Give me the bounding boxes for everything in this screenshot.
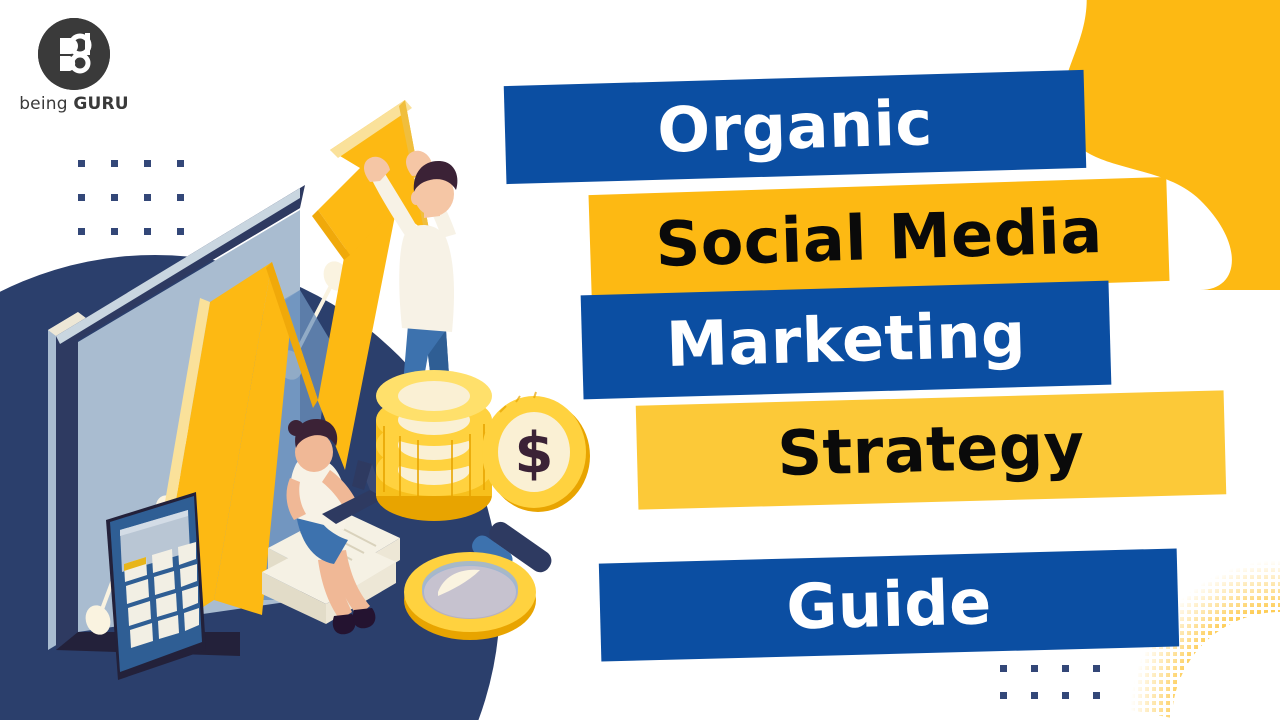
brand-logo[interactable]: being GURU [14, 18, 134, 113]
calculator [106, 492, 206, 680]
brand-wordmark-light: being [19, 94, 73, 114]
coin-stack: $ [376, 370, 590, 521]
title-line-marketing: Marketing [665, 304, 1026, 376]
title-line-strategy: Strategy [777, 415, 1086, 485]
title-banner-marketing: Marketing [581, 281, 1112, 400]
title-line-guide: Guide [786, 571, 993, 638]
title-banner-guide: Guide [599, 548, 1179, 661]
magnifying-glass [404, 518, 555, 640]
poster-canvas: $ [0, 0, 1280, 720]
dollar-coin: $ [482, 392, 590, 512]
being-guru-monogram-icon [38, 18, 110, 90]
title-line-organic: Organic [657, 92, 934, 162]
title-banner-strategy: Strategy [636, 390, 1227, 509]
svg-text:$: $ [515, 421, 554, 486]
brand-wordmark: being GURU [14, 96, 134, 113]
brand-wordmark-bold: GURU [73, 94, 128, 114]
title-banner-organic: Organic [504, 70, 1087, 184]
title-line-social-media: Social Media [655, 200, 1104, 276]
